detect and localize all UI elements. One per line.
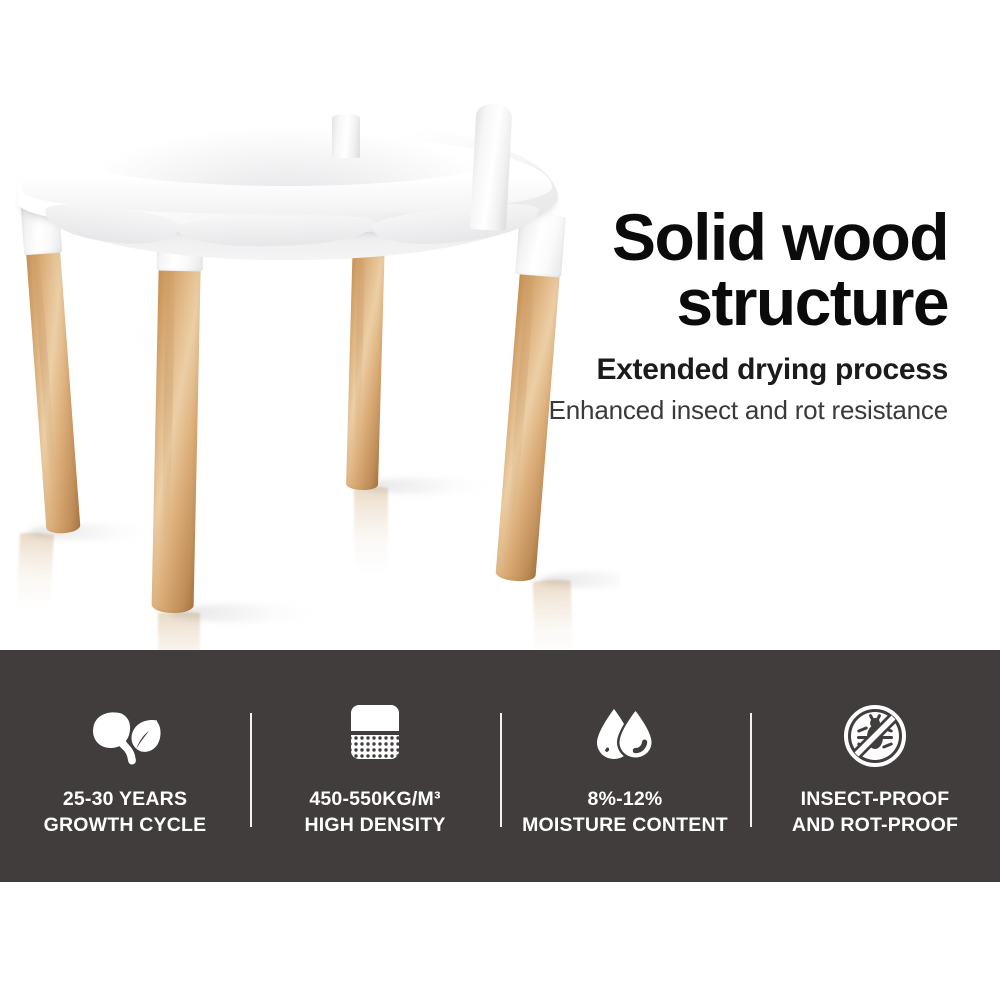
floor-shadow [360, 478, 495, 494]
water-droplets-icon [592, 699, 658, 773]
leg-reflection [354, 487, 388, 573]
hero-section: Solid woodstructure Extended drying proc… [0, 0, 1000, 650]
subheading: Extended drying process [478, 353, 948, 386]
leg-reflection [16, 532, 54, 610]
headline-line-2: structure [478, 270, 948, 335]
no-insect-icon [843, 699, 907, 773]
feature-label: 8%-12% MOISTURE CONTENT [522, 787, 728, 839]
feature-label: 450-550KG/M³ HIGH DENSITY [304, 787, 445, 839]
supporting-text: Enhanced insect and rot resistance [478, 396, 948, 425]
feature-label: INSECT-PROOF AND ROT-PROOF [792, 787, 958, 839]
seat-dish [72, 126, 502, 186]
feature-high-density: 450-550KG/M³ HIGH DENSITY [250, 650, 500, 882]
feature-moisture-content: 8%-12% MOISTURE CONTENT [500, 650, 750, 882]
feature-growth-cycle: 25-30 YEARS GROWTH CYCLE [0, 650, 250, 882]
product-feature-banner: Solid woodstructure Extended drying proc… [0, 0, 1000, 1000]
headline-line-1: Solid wood [612, 200, 948, 274]
page-title: Solid woodstructure [478, 205, 948, 336]
backrest-post-center [332, 114, 360, 158]
leaf-sprout-icon [88, 699, 162, 773]
feature-label: 25-30 YEARS GROWTH CYCLE [44, 787, 207, 839]
leg-reflection [533, 579, 574, 650]
hero-copy: Solid woodstructure Extended drying proc… [478, 205, 948, 424]
feature-bar: 25-30 YEARS GROWTH CYCLE 450-550KG/M³ HI… [0, 650, 1000, 882]
density-block-icon [341, 699, 409, 773]
feature-insect-proof: INSECT-PROOF AND ROT-PROOF [750, 650, 1000, 882]
